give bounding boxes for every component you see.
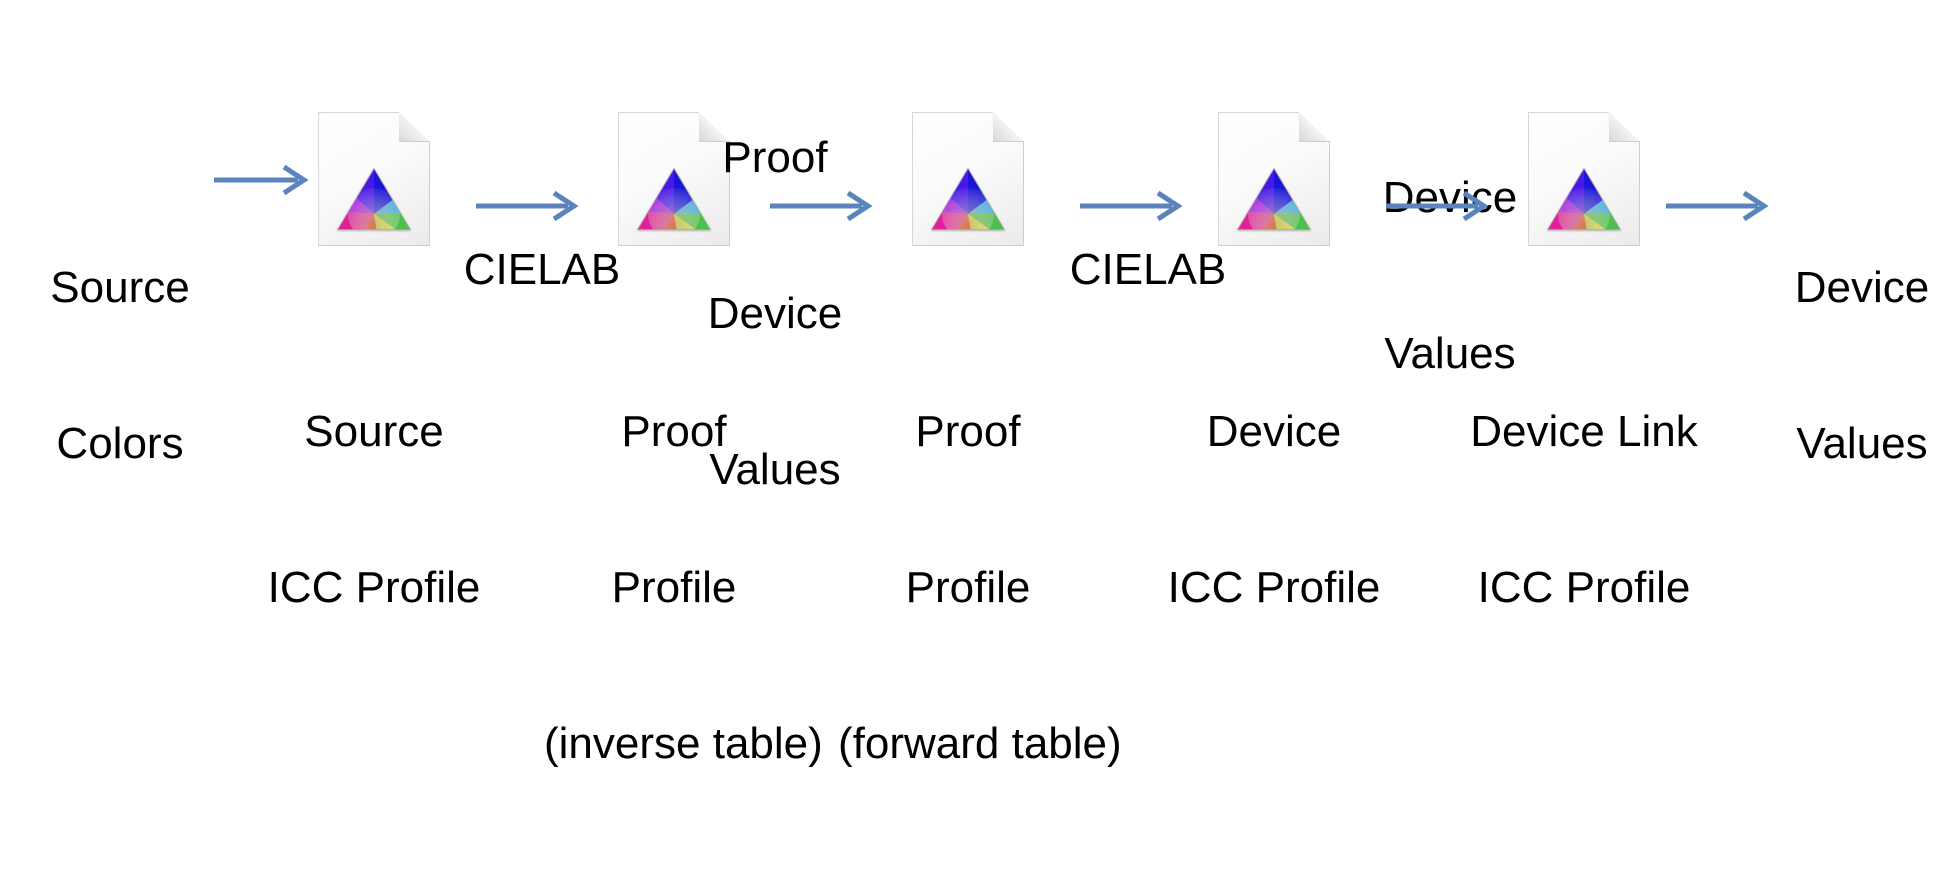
arrow-glyph [1078, 184, 1188, 228]
arrow-proof-inverse-to-proof-forward [768, 184, 878, 228]
color-triangle-icon [929, 166, 1007, 232]
color-gamut-triangle [335, 166, 413, 232]
arrow-glyph [768, 184, 878, 228]
cielab-1-text: CIELAB [452, 244, 632, 296]
label-device-values-output: Device Values [1772, 158, 1944, 574]
color-gamut-triangle [1545, 166, 1623, 232]
arrow-source-profile-to-proof-inverse [474, 184, 584, 228]
arrow-glyph [1384, 184, 1494, 228]
color-triangle-icon [1235, 166, 1313, 232]
device-values-output-line-2: Values [1772, 418, 1944, 470]
page-fold-corner [1299, 112, 1330, 142]
proof-profile-inverse-line-3: (inverse table) [544, 718, 804, 770]
color-triangle-icon [335, 166, 413, 232]
icon-source-icc-profile[interactable] [318, 112, 430, 246]
device-link-icc-profile-line-1: Device Link [1454, 406, 1714, 458]
icon-device-icc-profile[interactable] [1218, 112, 1330, 246]
label-source-colors: Source Colors [20, 158, 220, 574]
page-fold-corner [1609, 112, 1640, 142]
source-colors-line-1: Source [20, 262, 220, 314]
device-link-icc-profile-line-2: ICC Profile [1454, 562, 1714, 614]
arrow-glyph [474, 184, 584, 228]
arrow-source-to-source-profile [212, 158, 312, 202]
arrow-device-link-to-output [1664, 184, 1774, 228]
color-gamut-triangle [1235, 166, 1313, 232]
color-gamut-triangle [929, 166, 1007, 232]
source-icc-profile-line-1: Source [244, 406, 504, 458]
proof-profile-forward-line-2: Profile [838, 562, 1098, 614]
arrow-glyph [212, 158, 312, 202]
color-management-workflow-diagram: Source Colors [0, 0, 1944, 526]
arrow-device-to-device-link [1384, 184, 1494, 228]
proof-profile-forward-line-3: (forward table) [838, 718, 1098, 770]
cielab-2-text: CIELAB [1058, 244, 1238, 296]
icon-device-link-icc-profile[interactable] [1528, 112, 1640, 246]
device-icc-profile-line-2: ICC Profile [1144, 562, 1404, 614]
page-fold-corner [993, 112, 1024, 142]
arrow-proof-forward-to-device [1078, 184, 1188, 228]
proof-profile-forward-line-1: Proof [838, 406, 1098, 458]
proof-device-values-line-1: Proof [660, 132, 890, 184]
label-device-link-icc-profile: Device Link ICC Profile [1454, 302, 1714, 718]
arrow-glyph [1664, 184, 1774, 228]
source-icc-profile-line-2: ICC Profile [244, 562, 504, 614]
color-triangle-icon [1545, 166, 1623, 232]
icon-proof-profile-forward[interactable] [912, 112, 1024, 246]
device-values-output-line-1: Device [1772, 262, 1944, 314]
source-colors-line-2: Colors [20, 418, 220, 470]
